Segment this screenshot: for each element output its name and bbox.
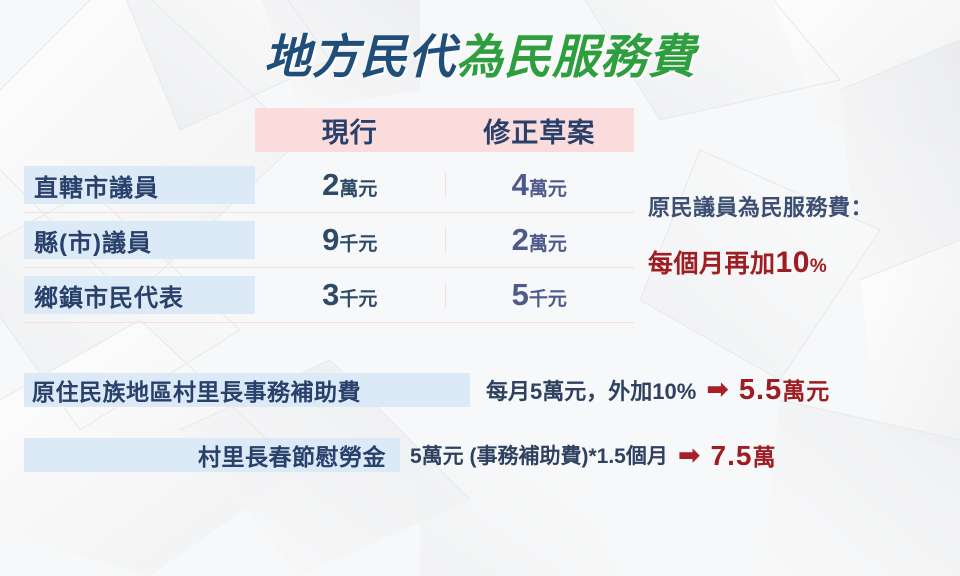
cell-current-unit: 千元 [339,289,377,310]
cell-current: 9千元 [255,222,445,258]
bottom-row2-label: 村里長春節慰勞金 [24,438,400,472]
bottom-row-new-year-bonus: 村里長春節慰勞金 5萬元 (事務補助費)*1.5個月 ➡ 7.5萬 [24,438,776,472]
side-note-percent: % [810,256,827,277]
bottom-row1-result-number: 5.5 [739,374,782,406]
bottom-row2-result-unit: 萬 [752,444,776,470]
cell-draft-number: 2 [512,222,529,257]
table-row: 直轄市議員 2萬元 4萬元 [24,158,634,213]
bottom-row1-formula: 每月5萬元，外加10% [486,374,696,406]
column-header-current: 現行 [255,111,445,150]
side-note-number: 10 [776,246,810,279]
bottom-row-indigenous-allowance: 原住民族地區村里長事務補助費 每月5萬元，外加10% ➡ 5.5萬元 [24,372,830,407]
table-body: 直轄市議員 2萬元 4萬元 縣(市)議員 9千元 2萬元 鄉鎮市民代表 [24,158,634,323]
cell-current-number: 3 [322,277,339,312]
bottom-row2-result-number: 7.5 [711,440,753,471]
table-header-row: 現行 修正草案 [255,108,634,152]
side-note: 原民議員為民服務費： 每個月再加10% [648,190,948,280]
side-note-prefix: 每個月再加 [648,250,776,278]
row-label: 鄉鎮市民代表 [24,276,255,314]
side-note-title: 原民議員為民服務費： [648,190,948,222]
bottom-row2-result: 7.5萬 [711,438,777,472]
bottom-row1-result-unit: 萬元 [782,378,830,404]
cell-draft: 2萬元 [445,222,635,258]
cell-draft-unit: 萬元 [529,179,567,200]
cell-draft-unit: 萬元 [529,234,567,255]
table-row: 鄉鎮市民代表 3千元 5千元 [24,268,634,323]
bottom-row1-label: 原住民族地區村里長事務補助費 [24,373,470,407]
cell-current: 2萬元 [255,167,445,203]
cell-draft: 5千元 [445,277,635,313]
cell-current: 3千元 [255,277,445,313]
table-row: 縣(市)議員 9千元 2萬元 [24,213,634,268]
cell-current-number: 9 [322,222,339,257]
row-label: 直轄市議員 [24,166,255,204]
page-title-blue: 地方民代 [264,30,456,83]
cell-current-unit: 千元 [339,234,377,255]
bottom-row1-value: 每月5萬元，外加10% ➡ 5.5萬元 [486,372,830,407]
page-title: 地方民代為民服務費 [0,18,960,87]
cell-draft-unit: 千元 [529,289,567,310]
cell-draft-number: 4 [512,167,529,202]
side-note-value: 每個月再加10% [648,244,948,280]
column-header-draft: 修正草案 [445,111,635,150]
bottom-row1-result: 5.5萬元 [739,372,830,407]
cell-draft: 4萬元 [445,167,635,203]
bottom-row2-value: 5萬元 (事務補助費)*1.5個月 ➡ 7.5萬 [410,438,776,472]
cell-current-number: 2 [322,167,339,202]
bottom-row2-formula: 5萬元 (事務補助費)*1.5個月 [410,440,668,470]
arrow-right-icon: ➡ [678,442,701,469]
cell-draft-number: 5 [512,277,529,312]
page-title-green: 為民服務費 [456,30,696,83]
arrow-right-icon: ➡ [706,376,729,403]
cell-current-unit: 萬元 [339,179,377,200]
row-label: 縣(市)議員 [24,221,255,259]
